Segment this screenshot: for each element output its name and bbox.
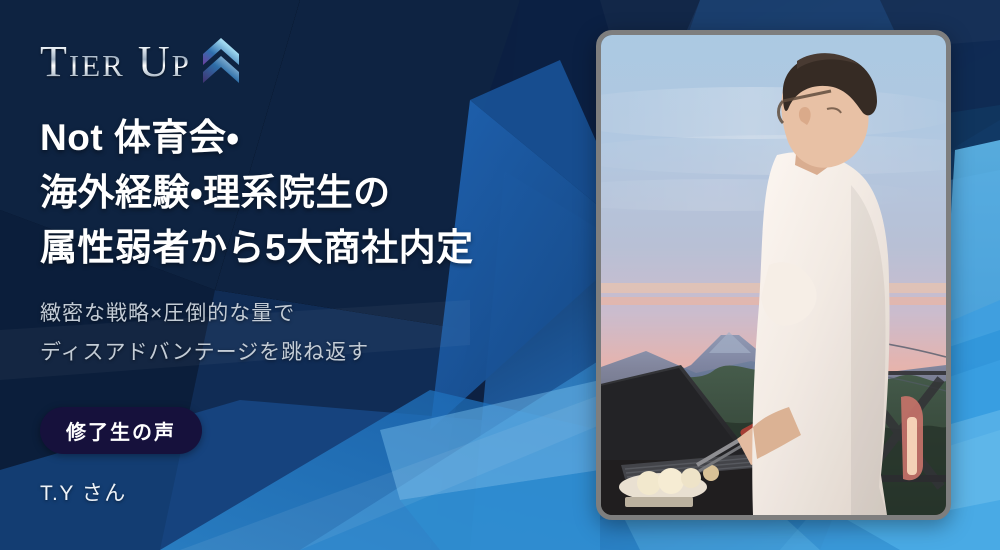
subtitle: 緻密な戦略×圧倒的な量で ディスアドバンテージを跳ね返す xyxy=(40,295,600,373)
photo-bbq-sunset-fuji xyxy=(601,35,946,515)
status-badge-graduate-voice: 修了生の声 xyxy=(40,407,202,454)
headline-line-1: Not 体育会・ xyxy=(40,110,600,165)
brand-logo-text: Tier Up xyxy=(40,40,191,84)
headline: Not 体育会・ 海外経験・理系院生の 属性弱者から5大商社内定 xyxy=(40,110,600,275)
headline-line-3: 属性弱者から5大商社内定 xyxy=(40,220,600,275)
chevron-arrow-up-icon xyxy=(201,34,241,90)
subtitle-line-2: ディスアドバンテージを跳ね返す xyxy=(40,334,600,373)
headline-line-2: 海外経験・理系院生の xyxy=(40,165,600,220)
person-name: T.Y さん xyxy=(40,477,600,507)
brand-logo[interactable]: Tier Up xyxy=(40,34,600,90)
subtitle-line-1: 緻密な戦略×圧倒的な量で xyxy=(40,295,600,334)
banner-content: Tier Up xyxy=(0,0,600,550)
testimonial-photo xyxy=(596,30,951,520)
promotional-banner: Tier Up xyxy=(0,0,1000,550)
